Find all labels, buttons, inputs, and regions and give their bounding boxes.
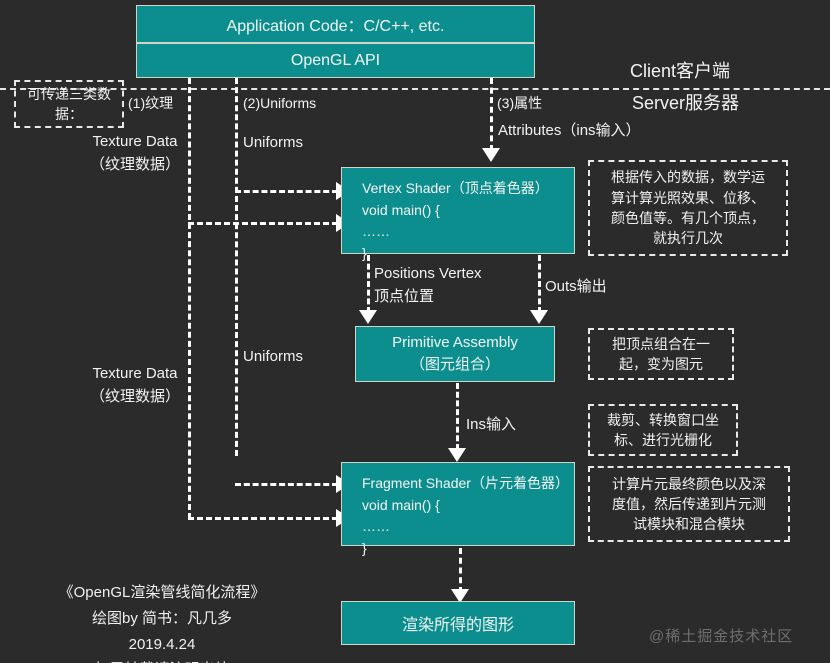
outs-label: Outs输出 [545,276,607,299]
vertex-shader-line-1: Vertex Shader（顶点着色器） [362,178,574,200]
primitive-assembly-note: 把顶点组合在一 起，变为图元 [588,328,734,380]
final-output-label: 渲染所得的图形 [402,611,514,635]
application-code-label: Application Code：C/C++, etc. [227,12,445,36]
vertex-shader-line-2: void main() { [362,200,574,222]
primitive-assembly-box: Primitive Assembly （图元组合） [355,326,555,382]
positions-vertex-line [367,255,370,313]
diagram-caption: 《OpenGL渲染管线简化流程》 绘图by 简书：凡几多 2019.4.24 如… [12,580,312,663]
attributes-label: Attributes（ins输入） [498,120,641,143]
ins-line [456,383,459,450]
opengl-api-label: OpenGL API [291,52,380,70]
ins-label: Ins输入 [466,414,516,437]
positions-vertex-arrowhead [359,310,377,324]
watermark: @稀土掘金技术社区 [649,625,793,646]
outs-line [538,255,541,313]
application-code-box: Application Code：C/C++, etc. [136,5,535,43]
texture-data-top-label: Texture Data （纹理数据） [76,131,194,176]
primitive-assembly-line-2: （图元组合） [410,354,500,377]
vertex-shader-box: Vertex Shader（顶点着色器） void main() { …… } [341,167,575,254]
fragment-shader-line-4: } [362,538,574,560]
vertex-shader-line-4: } [362,243,574,265]
opengl-api-box: OpenGL API [136,43,535,78]
positions-vertex-label: Positions Vertex 顶点位置 [374,263,482,308]
uniforms-to-vertex-line [235,190,338,193]
opengl-pipeline-diagram: Application Code：C/C++, etc. OpenGL API … [0,0,830,663]
client-label: Client客户端 [630,58,730,85]
data-channel-2-label: (2)Uniforms [243,93,316,114]
uniforms-top-label: Uniforms [243,132,303,155]
attributes-trunk-line [490,78,493,151]
fragment-shader-line-3: …… [362,516,574,538]
vertex-shader-line-3: …… [362,221,574,243]
ins-arrowhead [448,448,466,462]
data-channel-3-label: (3)属性 [497,93,542,114]
three-data-types-text: 可传递三类数 据： [27,84,111,125]
fragment-shader-line-1: Fragment Shader（片元着色器） [362,473,574,495]
final-output-box: 渲染所得的图形 [341,601,575,645]
data-channel-1-label: (1)纹理 [128,93,173,114]
rasterize-note-text: 裁剪、转换窗口坐 标、进行光栅化 [607,410,719,451]
vertex-shader-note: 根据传入的数据，数学运 算计算光照效果、位移、 颜色值等。有几个顶点， 就执行几… [588,160,788,256]
uniforms-mid-label: Uniforms [243,346,303,369]
uniforms-to-fragment-line [235,483,338,486]
primitive-assembly-line-1: Primitive Assembly [392,332,518,355]
texture-to-vertex-line [188,222,338,225]
three-data-types-note: 可传递三类数 据： [14,80,124,128]
texture-to-fragment-line [188,517,338,520]
fragment-shader-box: Fragment Shader（片元着色器） void main() { …… … [341,462,575,546]
texture-data-bottom-label: Texture Data （纹理数据） [76,363,194,408]
vertex-shader-note-text: 根据传入的数据，数学运 算计算光照效果、位移、 颜色值等。有几个顶点， 就执行几… [611,167,765,248]
attributes-arrowhead [482,148,500,162]
fragment-shader-note-text: 计算片元最终颜色以及深 度值，然后传递到片元测 试模块和混合模块 [612,474,766,535]
rasterize-note: 裁剪、转换窗口坐 标、进行光栅化 [588,404,738,456]
outs-arrowhead [530,310,548,324]
fragment-shader-line-2: void main() { [362,495,574,517]
primitive-assembly-note-text: 把顶点组合在一 起，变为图元 [612,334,710,375]
uniforms-trunk-line [235,78,238,456]
server-label: Server服务器 [632,90,739,117]
texture-trunk-line [188,78,191,519]
final-output-line [459,548,462,593]
fragment-shader-note: 计算片元最终颜色以及深 度值，然后传递到片元测 试模块和混合模块 [588,466,790,542]
